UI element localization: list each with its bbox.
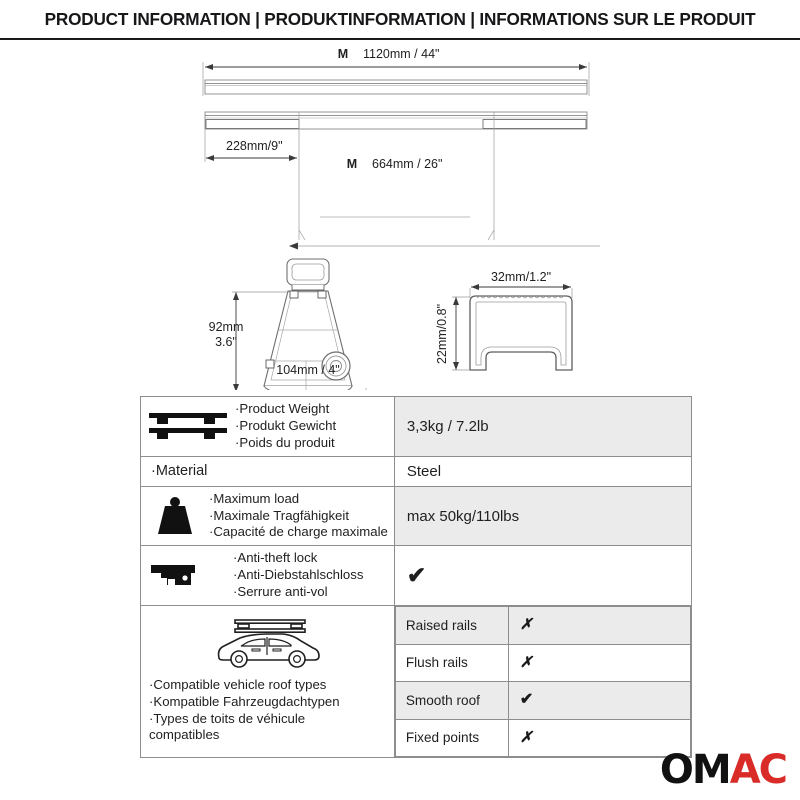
roof-type-mark-cell: ✔ bbox=[508, 682, 690, 720]
car-with-rack-icon bbox=[207, 615, 327, 671]
roof-type-mark: ✗ bbox=[520, 729, 533, 746]
drawing-canvas: M 1120mm / 44" 228mm/9" M 664mm / 26" 92… bbox=[0, 40, 800, 390]
foot-height-inch-label: 3.6" bbox=[215, 335, 237, 349]
roof-type-row: Raised rails ✗ bbox=[395, 607, 690, 645]
table-row: ·Compatible vehicle roof types ·Kompatib… bbox=[141, 606, 692, 758]
roof-label-line: ·Compatible vehicle roof types bbox=[149, 677, 340, 694]
span-marker: M bbox=[347, 157, 357, 171]
roof-type-name: Fixed points bbox=[395, 719, 508, 757]
table-row: ·Product Weight ·Produkt Gewicht ·Poids … bbox=[141, 397, 692, 457]
spec-label-line: ·Poids du produit bbox=[235, 435, 336, 452]
logo-text-accent: AC bbox=[730, 747, 786, 793]
table-row: ·Material Steel bbox=[141, 456, 692, 486]
spec-label-cell: ·Material bbox=[141, 456, 395, 486]
crossbars-icon bbox=[147, 406, 229, 446]
spec-value-cell: ✔ bbox=[394, 546, 691, 606]
spec-value-cell: 3,3kg / 7.2lb bbox=[394, 397, 691, 457]
spec-label-line: ·Serrure anti-vol bbox=[233, 584, 363, 601]
roof-label-line: compatibles bbox=[149, 727, 340, 744]
foot-height-label: 92mm bbox=[209, 320, 244, 334]
spec-label-text: ·Product Weight ·Produkt Gewicht ·Poids … bbox=[235, 401, 336, 452]
roof-type-row: Flush rails ✗ bbox=[395, 644, 690, 682]
roof-types-label-text: ·Compatible vehicle roof types ·Kompatib… bbox=[149, 677, 340, 745]
page-header: PRODUCT INFORMATION | PRODUKTINFORMATION… bbox=[0, 0, 800, 40]
roof-type-mark-cell: ✗ bbox=[508, 644, 690, 682]
spec-label-text: ·Material bbox=[147, 462, 207, 481]
roof-type-row: Fixed points ✗ bbox=[395, 719, 690, 757]
spec-label-line: ·Anti-Diebstahlschloss bbox=[233, 567, 363, 584]
roof-type-name: Smooth roof bbox=[395, 682, 508, 720]
bar-length-label: 1120mm / 44" bbox=[363, 47, 439, 61]
roof-type-mark: ✗ bbox=[520, 616, 533, 633]
roof-types-matrix-cell: Raised rails ✗ Flush rails ✗ bbox=[394, 606, 691, 758]
end-offset-label: 228mm/9" bbox=[226, 139, 283, 153]
lock-icon bbox=[147, 559, 203, 593]
spec-label-text: ·Anti-theft lock ·Anti-Diebstahlschloss … bbox=[233, 550, 363, 601]
spec-label-line: ·Anti-theft lock bbox=[233, 550, 363, 567]
foot-width-label: 104mm / 4" bbox=[276, 363, 340, 377]
roof-type-name: Raised rails bbox=[395, 607, 508, 645]
spec-label-cell: ·Product Weight ·Produkt Gewicht ·Poids … bbox=[141, 397, 395, 457]
page-title: PRODUCT INFORMATION | PRODUKTINFORMATION… bbox=[45, 9, 756, 30]
technical-drawing: M 1120mm / 44" 228mm/9" M 664mm / 26" 92… bbox=[0, 40, 800, 390]
spec-label-text: ·Maximum load ·Maximale Tragfähigkeit ·C… bbox=[209, 491, 388, 542]
bar-length-marker: M bbox=[338, 47, 348, 61]
roof-type-mark: ✔ bbox=[520, 691, 533, 708]
roof-label-line: ·Types de toits de véhicule bbox=[149, 711, 340, 728]
roof-types-table: Raised rails ✗ Flush rails ✗ bbox=[395, 606, 691, 757]
spec-value-cell: max 50kg/110lbs bbox=[394, 486, 691, 546]
weight-icon bbox=[147, 494, 203, 538]
profile-height-label: 22mm/0.8" bbox=[435, 304, 449, 364]
spec-label-line: ·Maximale Tragfähigkeit bbox=[209, 508, 388, 525]
spec-label-line: ·Material bbox=[147, 462, 207, 481]
roof-type-name: Flush rails bbox=[395, 644, 508, 682]
specification-table: ·Product Weight ·Produkt Gewicht ·Poids … bbox=[140, 396, 692, 758]
spec-value-cell: Steel bbox=[394, 456, 691, 486]
table-row: ·Maximum load ·Maximale Tragfähigkeit ·C… bbox=[141, 486, 692, 546]
table-row: ·Anti-theft lock ·Anti-Diebstahlschloss … bbox=[141, 546, 692, 606]
roof-type-mark: ✗ bbox=[520, 654, 533, 671]
span-label: 664mm / 26" bbox=[372, 157, 442, 171]
product-information-page: PRODUCT INFORMATION | PRODUKTINFORMATION… bbox=[0, 0, 800, 800]
roof-type-row: Smooth roof ✔ bbox=[395, 682, 690, 720]
spec-label-line: ·Capacité de charge maximale bbox=[209, 524, 388, 541]
omac-logo: OMAC bbox=[660, 750, 786, 790]
roof-type-mark-cell: ✗ bbox=[508, 607, 690, 645]
spec-label-line: ·Maximum load bbox=[209, 491, 388, 508]
spec-label-line: ·Produkt Gewicht bbox=[235, 418, 336, 435]
logo-text-dark: OM bbox=[660, 747, 730, 793]
spec-label-cell: ·Anti-theft lock ·Anti-Diebstahlschloss … bbox=[141, 546, 395, 606]
roof-label-line: ·Kompatible Fahrzeugdachtypen bbox=[149, 694, 340, 711]
anti-theft-checkmark: ✔ bbox=[407, 562, 426, 588]
spec-label-cell: ·Maximum load ·Maximale Tragfähigkeit ·C… bbox=[141, 486, 395, 546]
profile-width-label: 32mm/1.2" bbox=[491, 270, 551, 284]
roof-types-label-cell: ·Compatible vehicle roof types ·Kompatib… bbox=[141, 606, 395, 758]
spec-label-line: ·Product Weight bbox=[235, 401, 336, 418]
